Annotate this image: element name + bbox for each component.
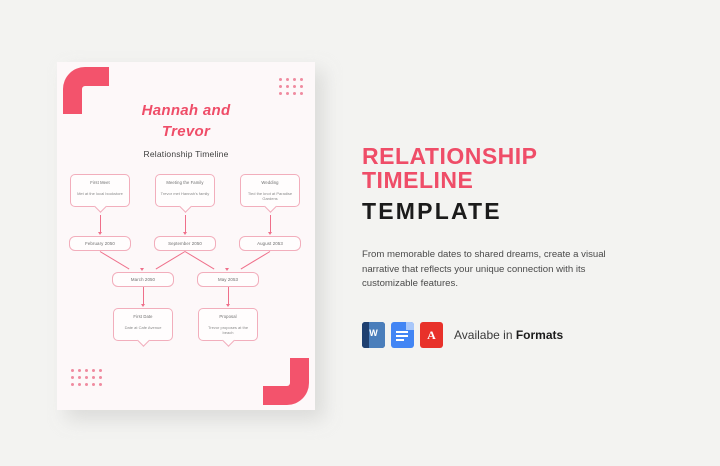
- event-title: First Meet: [75, 180, 125, 186]
- date-label: February 2050: [85, 241, 115, 247]
- poster-header: Hannah and Trevor Relationship Timeline: [57, 100, 315, 159]
- connector-line: [185, 215, 186, 233]
- event-detail: Tied the knot at Paradise Gardens: [245, 191, 295, 202]
- connector-arrow-icon: [98, 232, 102, 235]
- event-node: Proposal Trevor proposes at the beach: [198, 308, 258, 341]
- connector-line: [241, 251, 271, 269]
- promo-title-template: TEMPLATE: [362, 196, 642, 226]
- event-title: Wedding: [245, 180, 295, 186]
- google-docs-icon[interactable]: [391, 322, 414, 348]
- event-node: Wedding Tied the knot at Paradise Garden…: [240, 174, 300, 207]
- promo-title-line-2: TIMELINE: [362, 168, 642, 192]
- connector-line: [143, 287, 144, 305]
- connector-arrow-icon: [268, 232, 272, 235]
- word-icon[interactable]: W: [362, 322, 385, 348]
- event-node: First Date Date at Cafe Avenue: [113, 308, 173, 341]
- event-detail: Trevor met Hannah's family: [160, 191, 210, 196]
- date-label: March 2050: [131, 277, 155, 283]
- connector-line: [228, 287, 229, 305]
- promo-panel: RELATIONSHIP TIMELINE TEMPLATE From memo…: [362, 144, 642, 292]
- connector-arrow-icon: [141, 304, 145, 307]
- event-detail: Trevor proposes at the beach: [203, 325, 253, 336]
- connector-line: [185, 251, 215, 269]
- couple-name-line-2: Trevor: [57, 121, 315, 142]
- date-pill: March 2050: [112, 272, 174, 287]
- word-icon-glyph: W: [362, 328, 385, 338]
- formats-label-bold: Formats: [516, 328, 563, 342]
- event-title: Meeting the Family: [160, 180, 210, 186]
- connector-arrow-icon: [140, 268, 144, 271]
- pdf-icon-glyph: A: [420, 328, 443, 343]
- connector-line: [100, 251, 130, 269]
- dot-grid-top-right-icon: [279, 78, 303, 95]
- couple-name-line-1: Hannah and: [57, 100, 315, 121]
- event-node: Meeting the Family Trevor met Hannah's f…: [155, 174, 215, 207]
- date-label: May 2053: [218, 277, 238, 283]
- connector-arrow-icon: [183, 232, 187, 235]
- event-detail: Met at the local bookstore: [75, 191, 125, 196]
- formats-label: Availabe in Formats: [454, 328, 563, 342]
- connector-line: [100, 215, 101, 233]
- event-node: First Meet Met at the local bookstore: [70, 174, 130, 207]
- pdf-icon[interactable]: A: [420, 322, 443, 348]
- date-label: September 2050: [168, 241, 202, 247]
- screenshot-root: Hannah and Trevor Relationship Timeline …: [0, 0, 720, 466]
- connector-arrow-icon: [226, 304, 230, 307]
- date-pill: August 2053: [239, 236, 301, 251]
- event-title: Proposal: [203, 314, 253, 320]
- event-title: First Date: [118, 314, 168, 320]
- promo-description: From memorable dates to shared dreams, c…: [362, 248, 624, 292]
- connector-line: [270, 215, 271, 233]
- promo-title-line-1: RELATIONSHIP: [362, 144, 642, 168]
- promo-title-accent: RELATIONSHIP TIMELINE: [362, 144, 642, 192]
- timeline-flowchart: First Meet Met at the local bookstore Me…: [57, 174, 315, 400]
- formats-label-plain: Availabe in: [454, 328, 516, 342]
- relationship-timeline-poster: Hannah and Trevor Relationship Timeline …: [57, 62, 315, 410]
- date-pill: February 2050: [69, 236, 131, 251]
- connector-line: [156, 251, 186, 269]
- date-label: August 2053: [257, 241, 283, 247]
- date-pill: September 2050: [154, 236, 216, 251]
- connector-arrow-icon: [225, 268, 229, 271]
- couple-names: Hannah and Trevor: [57, 100, 315, 142]
- event-detail: Date at Cafe Avenue: [118, 325, 168, 330]
- available-formats: W A Availabe in Formats: [362, 322, 563, 348]
- poster-subtitle: Relationship Timeline: [57, 149, 315, 159]
- date-pill: May 2053: [197, 272, 259, 287]
